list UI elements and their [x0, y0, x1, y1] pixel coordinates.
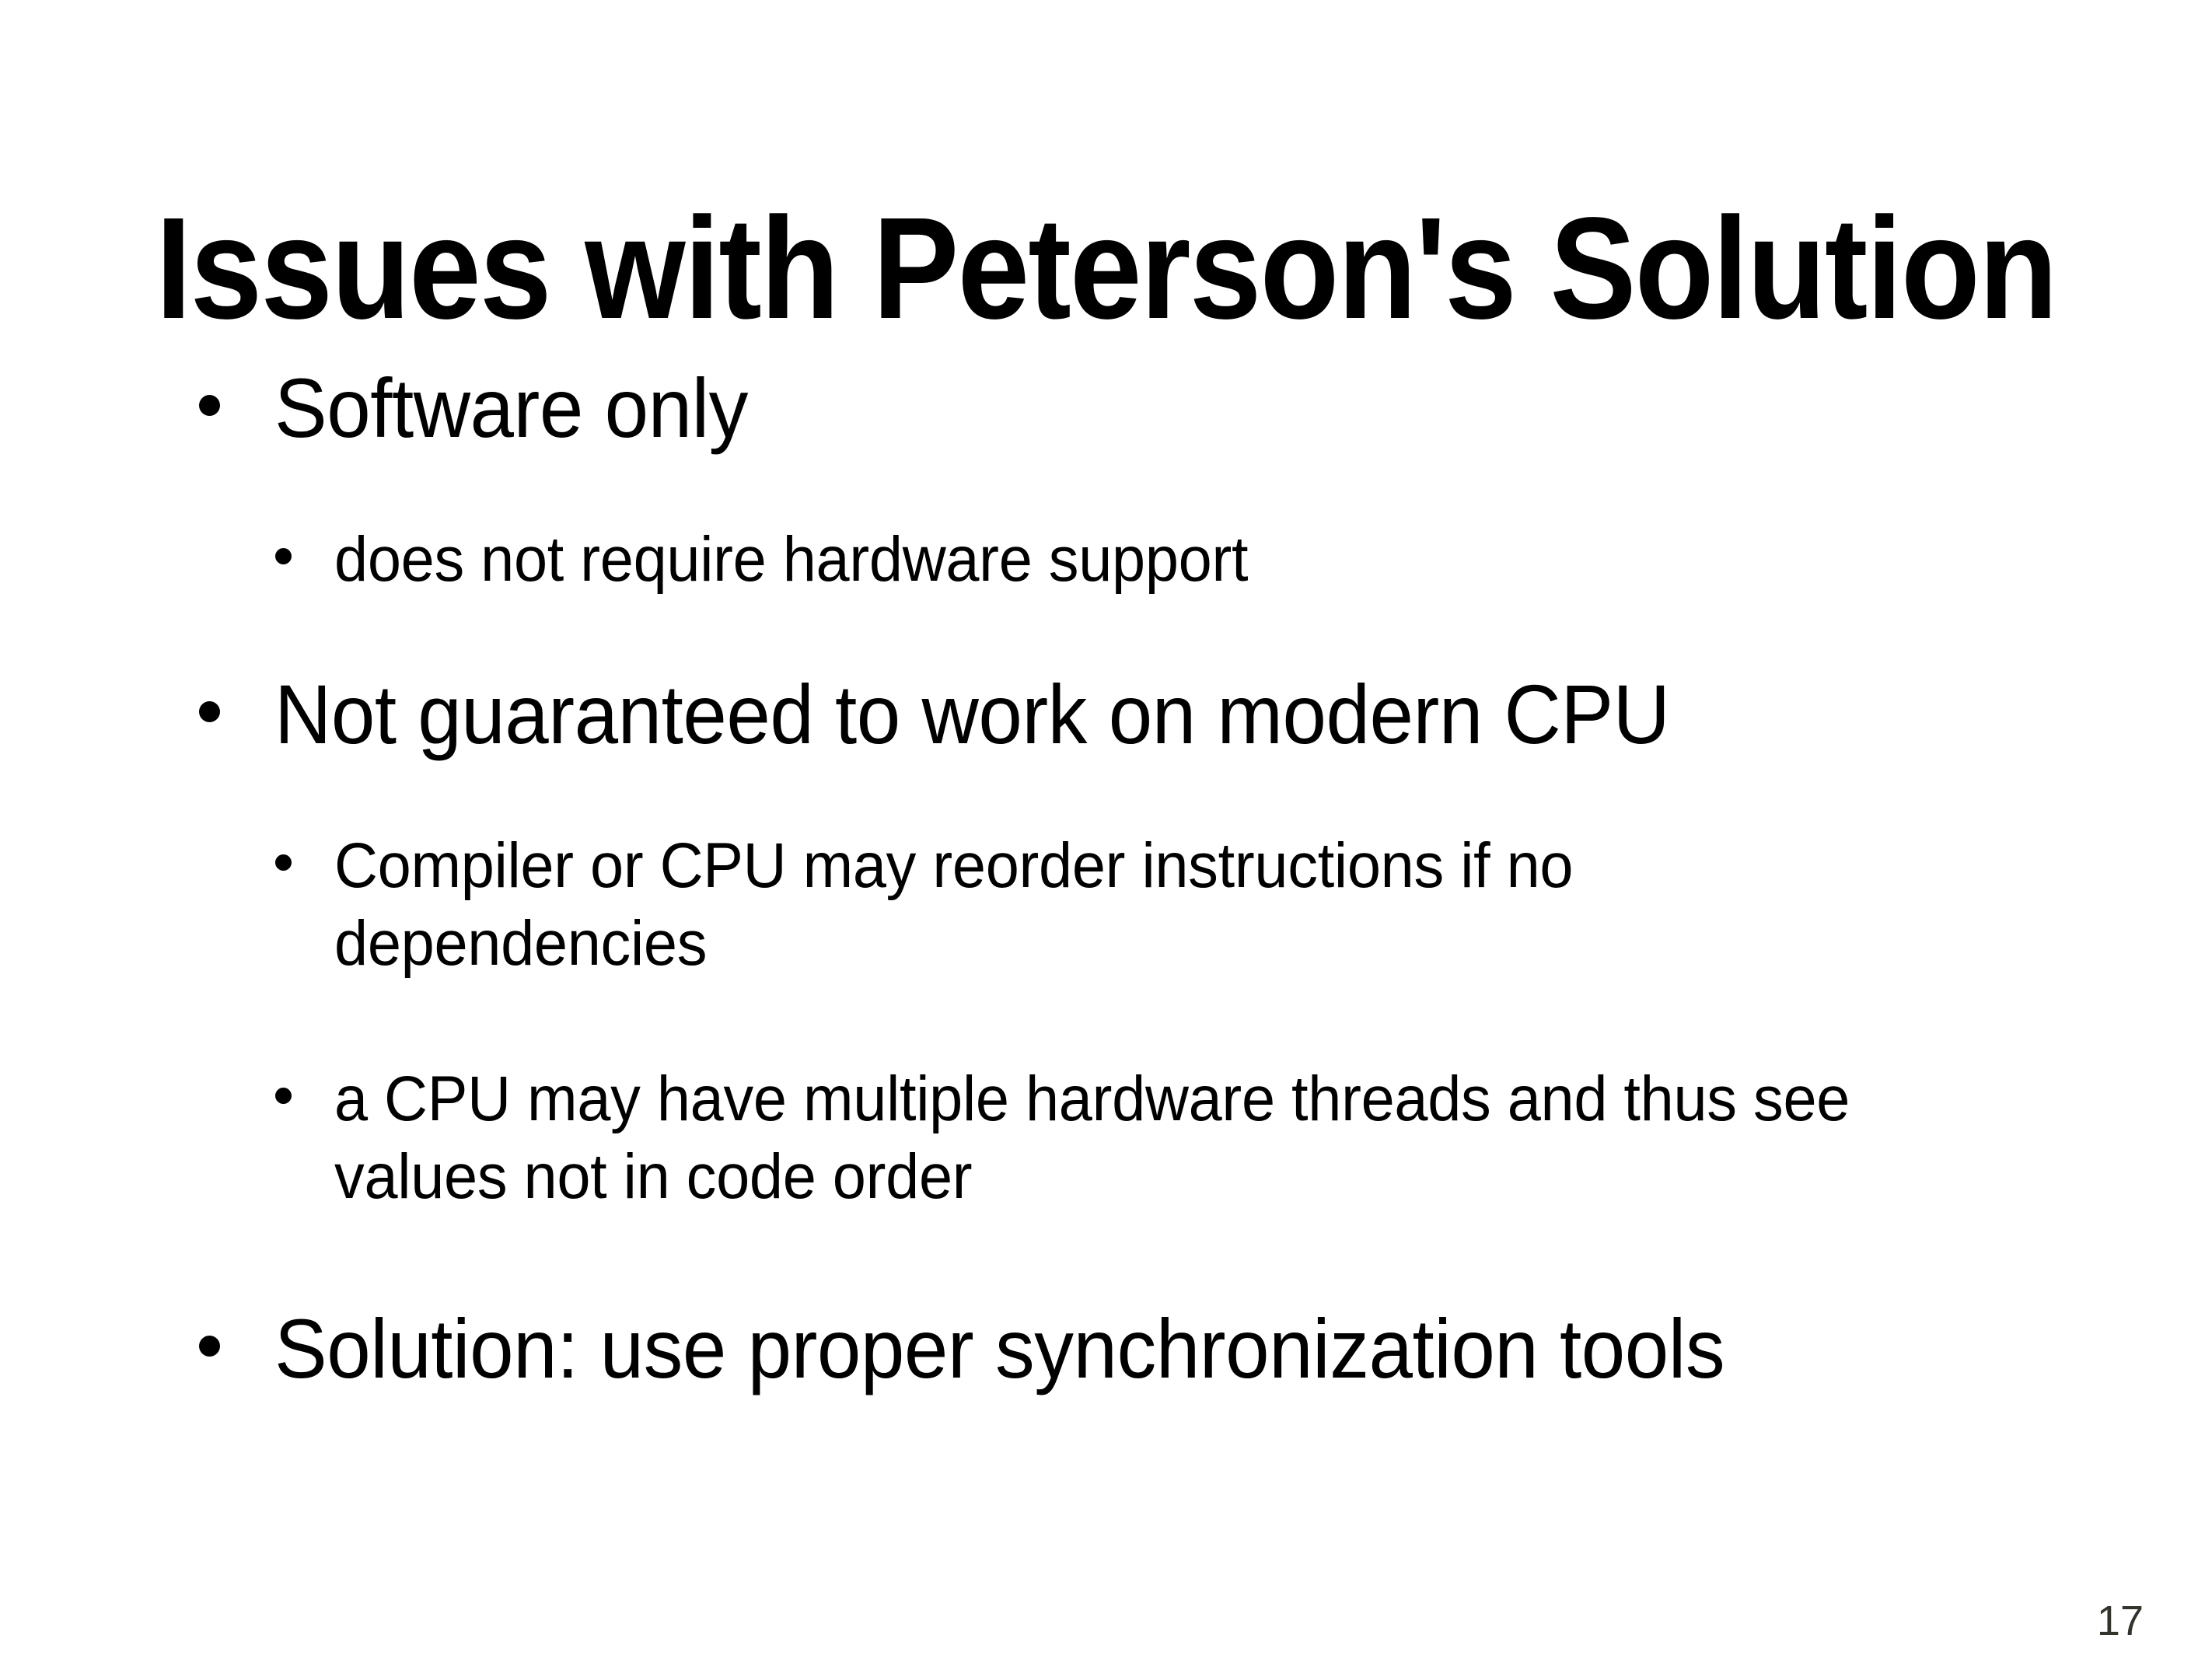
- bullet-multiple-threads: a CPU may have multiple hardware threads…: [271, 1060, 1989, 1216]
- page-number: 17: [2097, 1600, 2144, 1642]
- bullet-dot-icon: [193, 665, 274, 749]
- bullet-solution: Solution: use proper synchronization too…: [193, 1300, 2028, 1397]
- bullet-dot-icon: [271, 521, 334, 585]
- bullet-text-solution: Solution: use proper synchronization too…: [274, 1300, 1923, 1397]
- bullet-dot-icon: [271, 827, 334, 891]
- bullet-text-compiler-reorder: Compiler or CPU may reorder instructions…: [334, 827, 1898, 983]
- bullet-text-software-only: Software only: [274, 359, 1923, 456]
- bullet-text-not-guaranteed: Not guaranteed to work on modern CPU: [274, 665, 1923, 763]
- bullet-software-only: Software only: [193, 359, 2028, 456]
- bullet-compiler-reorder: Compiler or CPU may reorder instructions…: [271, 827, 1989, 983]
- bullet-text-multiple-threads: a CPU may have multiple hardware threads…: [334, 1060, 1898, 1216]
- bullet-no-hardware: does not require hardware support: [271, 521, 1989, 599]
- bullet-not-guaranteed: Not guaranteed to work on modern CPU: [193, 665, 2028, 763]
- bullet-dot-icon: [193, 359, 274, 443]
- slide-canvas: Issues with Peterson's Solution Software…: [0, 0, 2212, 1659]
- bullet-dot-icon: [271, 1060, 334, 1124]
- slide-body-outline: Software only does not require hardware …: [0, 0, 2212, 1659]
- bullet-text-no-hardware: does not require hardware support: [334, 521, 1898, 599]
- bullet-dot-icon: [193, 1300, 274, 1384]
